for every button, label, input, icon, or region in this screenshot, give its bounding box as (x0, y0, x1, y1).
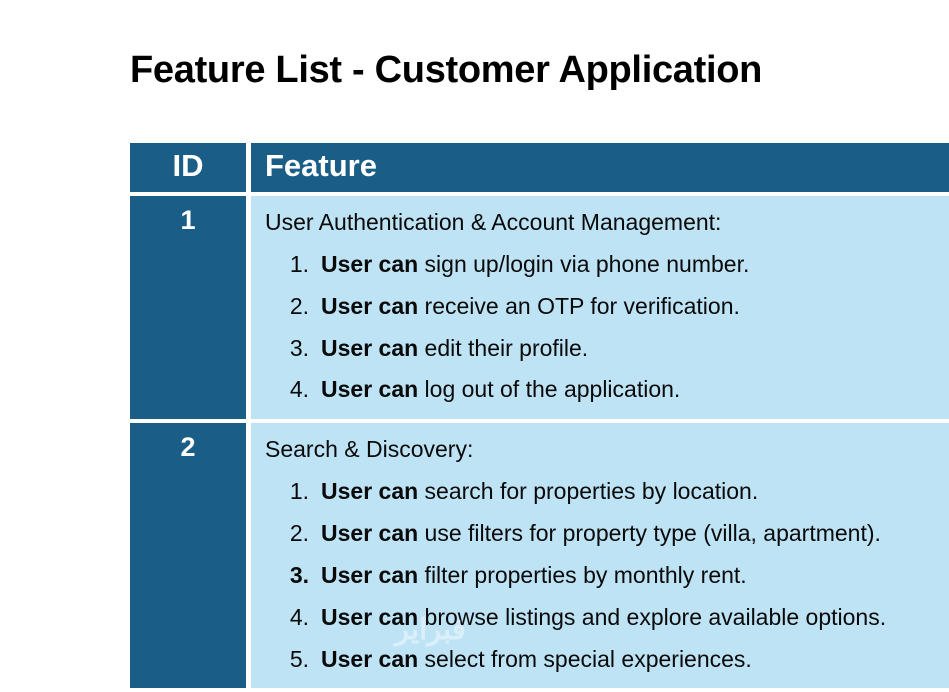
list-item-text: log out of the application. (418, 376, 680, 402)
list-item-lead: User can (321, 335, 418, 361)
list-item-text: use filters for property type (villa, ap… (418, 520, 881, 546)
list-item-text: receive an OTP for verification. (418, 293, 740, 319)
column-header-id: ID (130, 143, 246, 196)
list-item-lead: User can (321, 251, 418, 277)
list-item: 5.User can select from special experienc… (321, 639, 949, 681)
feature-heading: User Authentication & Account Management… (265, 202, 949, 244)
list-item: 1.User can sign up/login via phone numbe… (321, 244, 949, 286)
table-row: 1 User Authentication & Account Manageme… (130, 196, 949, 423)
list-item: 4.User can browse listings and explore a… (321, 597, 949, 639)
row-id-cell: 1 (130, 196, 246, 423)
page-title: Feature List - Customer Application (130, 50, 762, 92)
list-item-lead: User can (321, 562, 418, 588)
list-item: 2.User can receive an OTP for verificati… (321, 286, 949, 328)
list-item: 1.User can search for properties by loca… (321, 471, 949, 513)
list-item-lead: User can (321, 604, 418, 630)
list-item-number: 3. (265, 555, 309, 597)
list-item: 4.User can log out of the application. (321, 369, 949, 411)
list-item-text: browse listings and explore available op… (418, 604, 886, 630)
list-item-text: sign up/login via phone number. (418, 251, 749, 277)
table-body: 1 User Authentication & Account Manageme… (130, 196, 949, 692)
row-id-cell: 2 (130, 423, 246, 692)
feature-list: 1.User can search for properties by loca… (265, 471, 949, 680)
list-item-text: search for properties by location. (418, 478, 758, 504)
column-header-feature: Feature (246, 143, 949, 196)
feature-heading: Search & Discovery: (265, 429, 949, 471)
table-header-row: ID Feature (130, 143, 949, 196)
list-item-lead: User can (321, 646, 418, 672)
list-item-number: 2. (265, 286, 309, 328)
list-item-number: 1. (265, 471, 309, 513)
list-item: 3.User can filter properties by monthly … (321, 555, 949, 597)
row-feature-cell: Search & Discovery: 1.User can search fo… (246, 423, 949, 692)
list-item-number: 3. (265, 328, 309, 370)
list-item-number: 2. (265, 513, 309, 555)
feature-table: ID Feature 1 User Authentication & Accou… (130, 143, 949, 692)
row-feature-cell: User Authentication & Account Management… (246, 196, 949, 423)
list-item-lead: User can (321, 293, 418, 319)
list-item-text: edit their profile. (418, 335, 588, 361)
list-item-number: 5. (265, 639, 309, 681)
list-item-text: select from special experiences. (418, 646, 752, 672)
list-item-number: 4. (265, 369, 309, 411)
list-item-text: filter properties by monthly rent. (418, 562, 747, 588)
list-item-lead: User can (321, 376, 418, 402)
list-item-number: 4. (265, 597, 309, 639)
table-row: 2 Search & Discovery: 1.User can search … (130, 423, 949, 692)
list-item: 2.User can use filters for property type… (321, 513, 949, 555)
list-item-lead: User can (321, 478, 418, 504)
list-item: 3.User can edit their profile. (321, 328, 949, 370)
feature-list: 1.User can sign up/login via phone numbe… (265, 244, 949, 411)
list-item-lead: User can (321, 520, 418, 546)
list-item-number: 1. (265, 244, 309, 286)
